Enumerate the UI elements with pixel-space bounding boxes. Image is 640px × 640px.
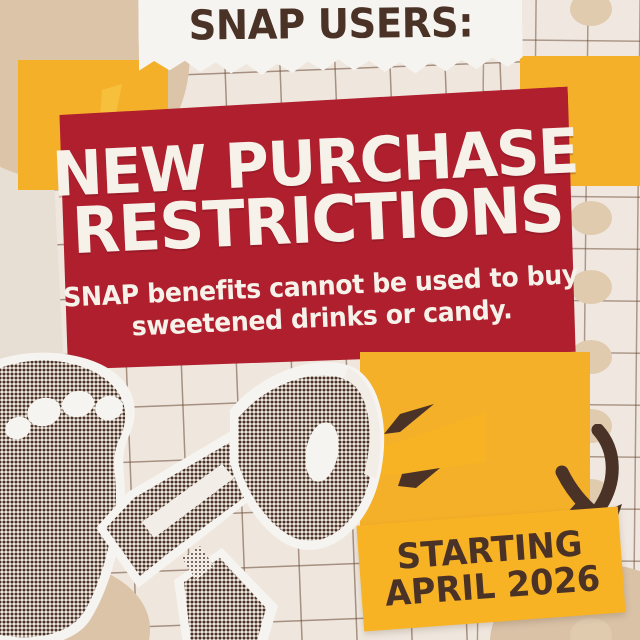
hole-icon <box>570 201 612 235</box>
banner-subtext: SNAP benefits cannot be used to buy swee… <box>49 259 593 346</box>
megaphone-illustration <box>0 352 408 640</box>
hole-icon <box>570 618 612 640</box>
header-text-block: ALERT FOR TEXAS SNAP USERS: <box>137 0 523 70</box>
headline-line-2: RESTRICTIONS <box>71 181 564 263</box>
header-line-2: SNAP USERS: <box>188 3 473 45</box>
poster-canvas: ALERT FOR TEXAS SNAP USERS: NEW PURCHASE… <box>0 0 640 640</box>
hole-icon <box>570 0 612 26</box>
red-banner-content: NEW PURCHASE RESTRICTIONS SNAP benefits … <box>56 87 580 378</box>
starting-date-badge-content: STARTING APRIL 2026 <box>356 507 625 632</box>
